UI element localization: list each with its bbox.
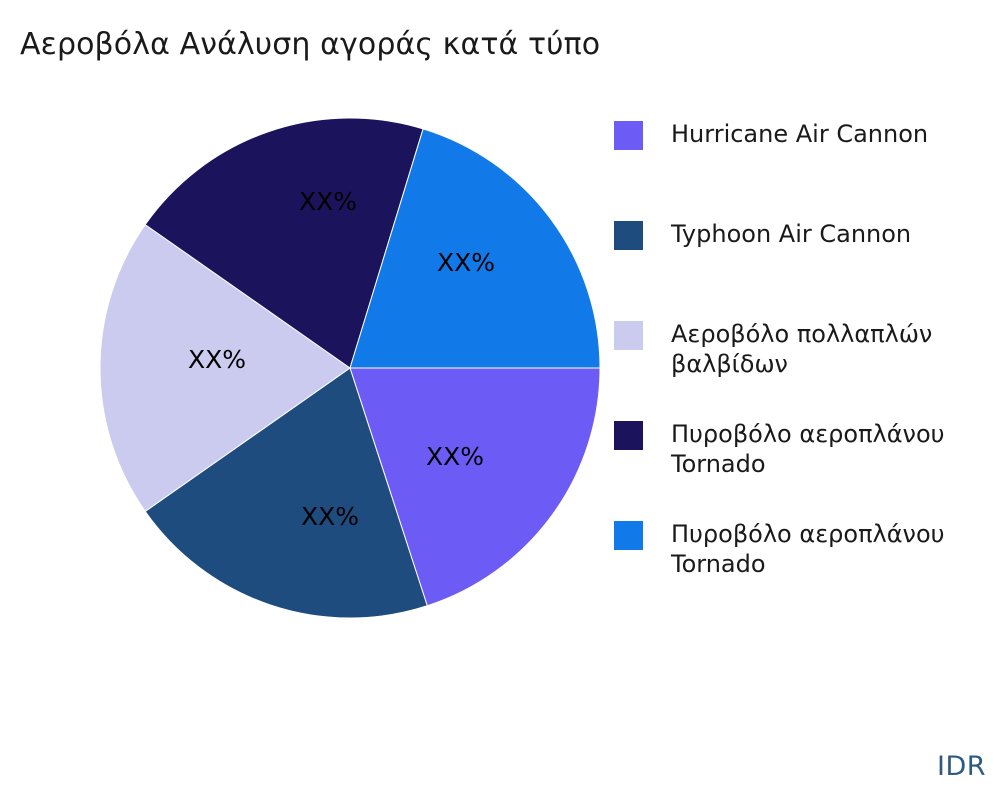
legend-item[interactable]: Πυροβόλο αεροπλάνου Tornado [614, 419, 1000, 479]
pie-slice-label: XX% [437, 248, 495, 277]
legend-color-swatch-icon [614, 221, 643, 250]
legend-item-label: Πυροβόλο αεροπλάνου Tornado [671, 419, 945, 479]
pie-chart: XX%XX%XX%XX%XX% [100, 118, 600, 618]
legend-item-label: Typhoon Air Cannon [671, 219, 911, 249]
legend-item[interactable]: Typhoon Air Cannon [614, 219, 1000, 250]
pie-slice-label: XX% [426, 442, 484, 471]
legend-color-swatch-icon [614, 321, 643, 350]
legend-color-swatch-icon [614, 521, 643, 550]
legend-item[interactable]: Hurricane Air Cannon [614, 119, 1000, 150]
legend-color-swatch-icon [614, 421, 643, 450]
pie-slice-label: XX% [299, 187, 357, 216]
legend-item-label: Hurricane Air Cannon [671, 119, 928, 149]
legend-color-swatch-icon [614, 121, 643, 150]
legend-item-label: Αεροβόλο πολλαπλών βαλβίδων [671, 319, 932, 379]
page-title: Αεροβόλα Ανάλυση αγοράς κατά τύπο [20, 26, 600, 64]
watermark-idr: IDR [937, 751, 986, 782]
legend-item[interactable]: Πυροβόλο αεροπλάνου Tornado [614, 519, 1000, 579]
legend-item[interactable]: Αεροβόλο πολλαπλών βαλβίδων [614, 319, 1000, 379]
pie-slice-label: XX% [188, 345, 246, 374]
legend-item-label: Πυροβόλο αεροπλάνου Tornado [671, 519, 945, 579]
chart-page: Αεροβόλα Ανάλυση αγοράς κατά τύπο XX%XX%… [0, 0, 1000, 800]
legend: Hurricane Air CannonTyphoon Air CannonΑε… [614, 112, 1000, 582]
pie-chart-svg: XX%XX%XX%XX%XX% [100, 118, 600, 618]
pie-slice-label: XX% [301, 502, 359, 531]
